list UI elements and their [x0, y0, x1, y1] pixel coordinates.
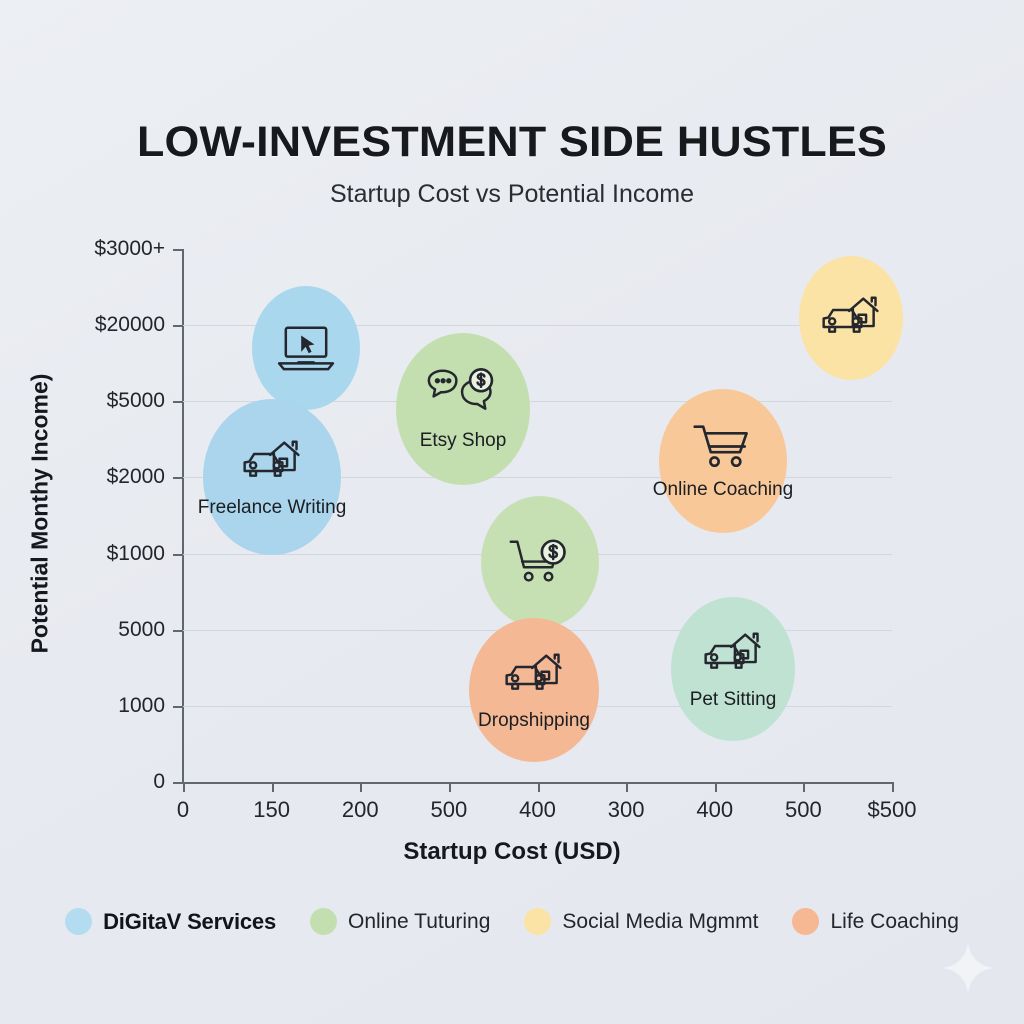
x-tick-mark [538, 782, 540, 792]
y-tick-label: $1000 [107, 542, 165, 566]
bubble-pet-sitting[interactable]: Pet Sitting [671, 597, 795, 741]
x-tick-mark [715, 782, 717, 792]
chart-legend: DiGitaV ServicesOnline TuturingSocial Me… [0, 908, 1024, 935]
x-tick-mark [626, 782, 628, 792]
y-tick-mark [173, 706, 183, 708]
chat-dollar-icon [426, 367, 500, 422]
x-tick-label: $500 [868, 797, 917, 823]
bubble-unlabeled-7[interactable] [799, 256, 903, 380]
y-tick-label: $5000 [107, 389, 165, 413]
x-tick-mark [449, 782, 451, 792]
legend-label: Social Media Mgmmt [562, 910, 758, 934]
bubble-unlabeled-3[interactable] [481, 496, 599, 628]
legend-label: Life Coaching [830, 910, 958, 934]
car-house-icon [501, 649, 567, 702]
cart-dollar-icon [507, 536, 573, 589]
x-tick-label: 400 [696, 797, 733, 823]
car-house-icon [700, 628, 766, 681]
x-tick-mark [272, 782, 274, 792]
bubble-label: Online Coaching [653, 479, 793, 501]
y-tick-mark [173, 249, 183, 251]
x-tick-label: 200 [342, 797, 379, 823]
x-tick-label: 150 [253, 797, 290, 823]
legend-color-swatch [524, 908, 551, 935]
laptop-cursor-icon [275, 323, 337, 373]
y-tick-label: 5000 [118, 618, 165, 642]
bubble-label: Freelance Writing [198, 497, 347, 519]
infographic-canvas: LOW-INVESTMENT SIDE HUSTLES Startup Cost… [0, 0, 1024, 1024]
y-tick-mark [173, 325, 183, 327]
car-house-icon [239, 436, 305, 489]
legend-item-social-media-mgmmt[interactable]: Social Media Mgmmt [524, 908, 758, 935]
legend-color-swatch [65, 908, 92, 935]
y-tick-mark [173, 401, 183, 403]
y-tick-mark [173, 477, 183, 479]
y-tick-mark [173, 782, 183, 784]
y-tick-label: $2000 [107, 465, 165, 489]
bubble-label: Dropshipping [478, 710, 590, 732]
bubble-label: Etsy Shop [420, 430, 507, 452]
legend-item-life-coaching[interactable]: Life Coaching [792, 908, 958, 935]
legend-color-swatch [310, 908, 337, 935]
car-house-icon [818, 292, 884, 345]
y-tick-label: $20000 [95, 313, 165, 337]
x-tick-label: 0 [177, 797, 189, 823]
bubble-unlabeled-0[interactable] [252, 286, 360, 410]
legend-label: Online Tuturing [348, 910, 490, 934]
bubble-online-coaching[interactable]: Online Coaching [659, 389, 787, 533]
y-axis-title: Potential Monthy Income) [27, 289, 54, 739]
legend-item-digitav-services[interactable]: DiGitaV Services [65, 908, 276, 935]
cart-icon [690, 422, 756, 471]
legend-label: DiGitaV Services [103, 909, 276, 935]
bubble-label: Pet Sitting [690, 689, 777, 711]
x-tick-mark [892, 782, 894, 792]
page-subtitle: Startup Cost vs Potential Income [0, 180, 1024, 209]
x-tick-label: 500 [431, 797, 468, 823]
bubble-freelance-writing[interactable]: Freelance Writing [203, 399, 341, 555]
y-tick-mark [173, 554, 183, 556]
y-tick-label: 1000 [118, 694, 165, 718]
bubble-dropshipping[interactable]: Dropshipping [469, 618, 599, 762]
x-tick-mark [183, 782, 185, 792]
y-tick-label: $3000+ [94, 237, 165, 261]
legend-color-swatch [792, 908, 819, 935]
x-tick-label: 500 [785, 797, 822, 823]
bubble-etsy-shop[interactable]: Etsy Shop [396, 333, 530, 485]
legend-item-online-tuturing[interactable]: Online Tuturing [310, 908, 490, 935]
x-tick-label: 300 [608, 797, 645, 823]
sparkle-star-icon [941, 941, 995, 995]
y-tick-label: 0 [153, 770, 165, 794]
x-axis-title: Startup Cost (USD) [0, 838, 1024, 866]
x-tick-mark [803, 782, 805, 792]
page-title: LOW-INVESTMENT SIDE HUSTLES [0, 118, 1024, 167]
x-tick-label: 400 [519, 797, 556, 823]
x-tick-mark [360, 782, 362, 792]
y-tick-mark [173, 630, 183, 632]
